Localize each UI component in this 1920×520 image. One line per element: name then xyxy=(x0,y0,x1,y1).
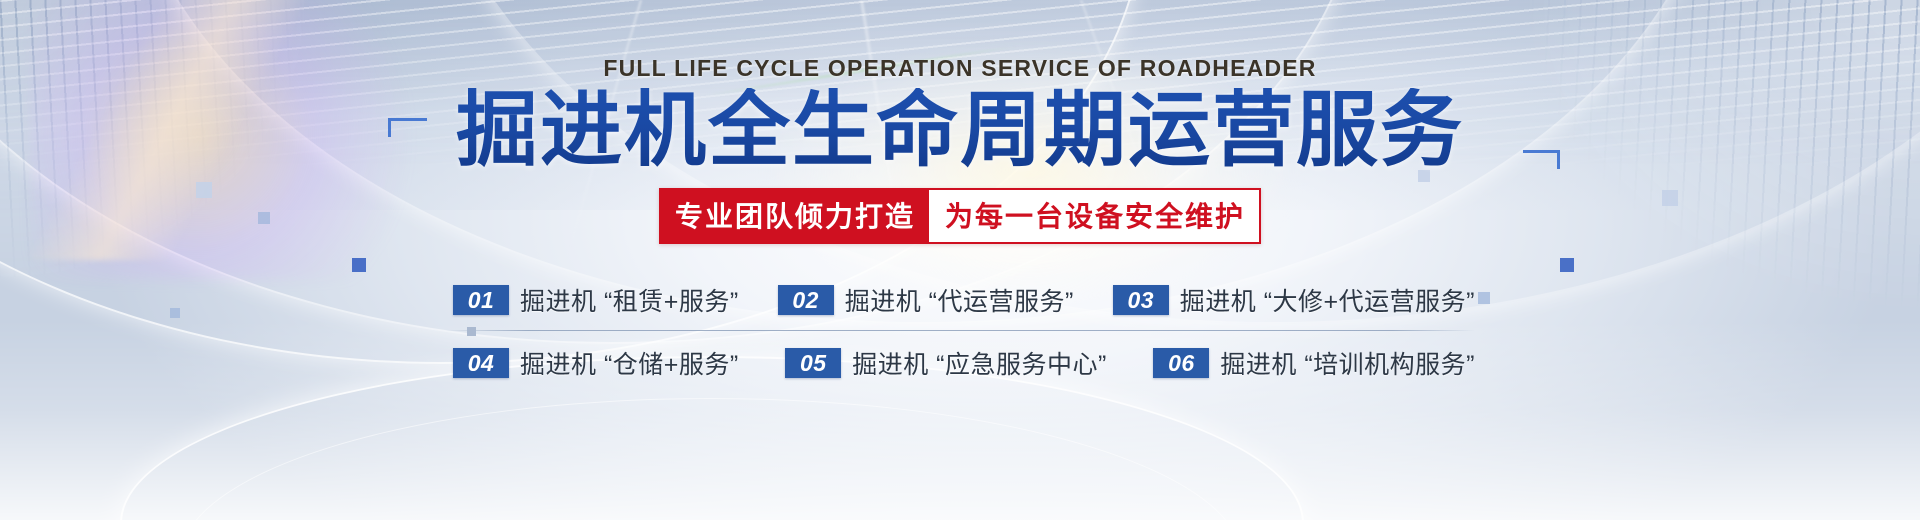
service-number-03: 03 xyxy=(1113,285,1169,315)
service-item-06[interactable]: 06 掘进机 “培训机构服务” xyxy=(1153,345,1475,381)
service-number-04: 04 xyxy=(453,348,509,378)
service-item-02[interactable]: 02 掘进机 “代运营服务” xyxy=(778,282,1074,318)
service-divider xyxy=(445,330,1475,331)
banner-content: FULL LIFE CYCLE OPERATION SERVICE OF ROA… xyxy=(0,0,1920,520)
service-item-03[interactable]: 03 掘进机 “大修+代运营服务” xyxy=(1113,282,1475,318)
roadheader-service-banner: FULL LIFE CYCLE OPERATION SERVICE OF ROA… xyxy=(0,0,1920,520)
service-item-04[interactable]: 04 掘进机 “仓储+服务” xyxy=(453,345,739,381)
service-list: 01 掘进机 “租赁+服务” 02 掘进机 “代运营服务” 03 掘进机 “大修… xyxy=(445,272,1475,391)
service-number-02: 02 xyxy=(778,285,834,315)
service-label-05: 掘进机 “应急服务中心” xyxy=(852,345,1107,381)
service-item-05[interactable]: 05 掘进机 “应急服务中心” xyxy=(785,345,1107,381)
service-label-03: 掘进机 “大修+代运营服务” xyxy=(1180,282,1475,318)
tagline-secondary: 为每一台设备安全维护 xyxy=(929,190,1259,242)
service-row-bottom: 04 掘进机 “仓储+服务” 05 掘进机 “应急服务中心” 06 掘进机 “培… xyxy=(445,335,1475,391)
service-number-05: 05 xyxy=(785,348,841,378)
service-number-06: 06 xyxy=(1153,348,1209,378)
service-label-01: 掘进机 “租赁+服务” xyxy=(520,282,739,318)
tagline-banner: 专业团队倾力打造 为每一台设备安全维护 xyxy=(659,188,1261,244)
tagline-primary: 专业团队倾力打造 xyxy=(661,190,929,242)
service-item-01[interactable]: 01 掘进机 “租赁+服务” xyxy=(453,282,739,318)
banner-headline: 掘进机全生命周期运营服务 xyxy=(456,88,1464,174)
service-label-04: 掘进机 “仓储+服务” xyxy=(520,345,739,381)
service-label-06: 掘进机 “培训机构服务” xyxy=(1220,345,1475,381)
service-label-02: 掘进机 “代运营服务” xyxy=(845,282,1074,318)
service-number-01: 01 xyxy=(453,285,509,315)
service-row-top: 01 掘进机 “租赁+服务” 02 掘进机 “代运营服务” 03 掘进机 “大修… xyxy=(445,272,1475,328)
banner-eyebrow-english: FULL LIFE CYCLE OPERATION SERVICE OF ROA… xyxy=(603,55,1316,82)
